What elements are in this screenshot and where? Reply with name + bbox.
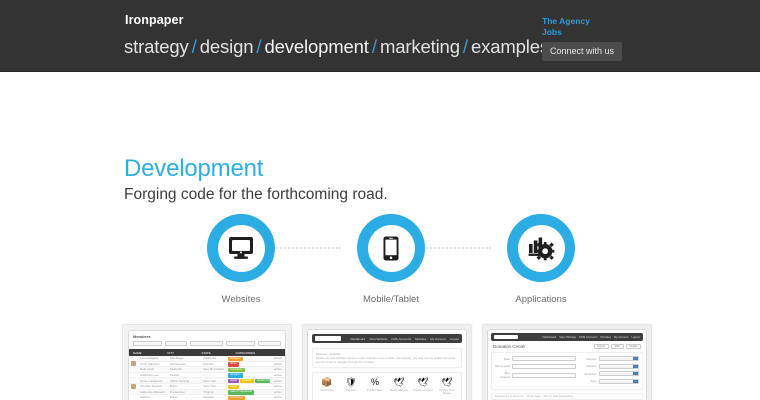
tile-icon: 📦 [315, 377, 339, 388]
service-item-mobile-tablet[interactable]: Mobile/Tablet [343, 214, 439, 305]
table-cell: New York [199, 384, 224, 388]
row-action[interactable]: active [270, 395, 285, 399]
thumb3-per-page: 25 per page [527, 395, 541, 398]
dashboard-icon-tile[interactable]: 🕊Product Coupons [411, 377, 435, 395]
toolbar-button[interactable]: Export [594, 344, 610, 349]
tile-icon: 🕊 [435, 377, 459, 388]
table-cell: San Diego [166, 356, 199, 360]
table-cell: Laura Rogers [136, 356, 166, 360]
thumb1-title: Members [129, 331, 285, 340]
table-cell: Plano [166, 395, 199, 399]
thumb2-menu: DashboardView WebsiteCMS AccountsModules… [351, 337, 460, 341]
service-circle [207, 214, 275, 282]
thumb3-filter-form: DateMin AmountMax Amount SponsorStreamsC… [491, 352, 643, 390]
page-title: Development [124, 155, 263, 183]
thumb2-notice-body: Please use this interface below to make … [316, 356, 458, 364]
utility-link-jobs[interactable]: Jobs [542, 27, 646, 38]
filter-select[interactable] [599, 379, 640, 384]
filter-label: Streams [582, 364, 597, 368]
menu-item[interactable]: View Website [559, 335, 576, 339]
row-action[interactable]: active [270, 384, 285, 388]
thumb3-pager: Displaying 1 to 25 of 171 25 per page So… [491, 393, 643, 400]
thumb2-topbar: DashboardView WebsiteCMS AccountsModules… [312, 334, 462, 343]
column-header: NAME [129, 349, 163, 356]
table-cell-tags: Consultant [224, 395, 270, 400]
table-cell: Connor Edgerton [136, 379, 166, 383]
page-subtitle: Forging code for the forthcoming road. [124, 186, 388, 204]
portfolio-thumbnail-grid: Members NAME CITY STATE CATEGORIES [122, 324, 652, 400]
connect-with-us-button[interactable]: Connect with us [542, 42, 622, 61]
filter-select[interactable] [599, 356, 640, 361]
table-cell: Sacramento [166, 362, 199, 366]
utility-link-the-agency[interactable]: The Agency [542, 16, 646, 27]
tile-label: Add Product [315, 389, 339, 392]
table-cell: Nashville [166, 367, 199, 371]
thumb3-sort: Sort by: date Descending [543, 395, 572, 398]
thumbnail-ecommerce-admin-dashboard[interactable]: DashboardView WebsiteCMS AccountsModules… [302, 324, 472, 400]
table-cell: Dale Leigh [136, 367, 166, 371]
thumb3-menu: DashboardView WebsiteCMS AccountsModules… [540, 335, 640, 339]
tile-label: Product Taxes [363, 389, 387, 392]
field-input[interactable] [512, 364, 576, 369]
service-list: Websites Mobile/Tablet [124, 214, 648, 318]
form-field: Date [495, 356, 576, 361]
field-input[interactable] [512, 356, 576, 361]
service-label: Applications [493, 294, 589, 305]
filter-select[interactable] [599, 371, 640, 376]
column-header: CITY [163, 349, 197, 356]
table-cell: Seattle [166, 373, 199, 377]
menu-item[interactable]: View Website [369, 337, 387, 341]
nav-item-marketing[interactable]: marketing [380, 36, 460, 58]
table-cell: Florida [199, 362, 224, 366]
nav-separator: / [372, 36, 377, 58]
tile-icon: 🕊 [387, 377, 411, 388]
smartphone-icon [368, 225, 415, 272]
thumb3-filters: SponsorStreamsCampaignType [582, 356, 640, 386]
thumb2-logo [315, 336, 341, 341]
table-cell: -- [199, 373, 224, 377]
field-label: Max Amount [495, 371, 510, 379]
form-field: Max Amount [495, 371, 576, 379]
nav-separator: / [256, 36, 261, 58]
row-action[interactable]: active [270, 390, 285, 394]
dashboard-icon-tile[interactable]: 🛡Products [339, 377, 363, 395]
row-action[interactable]: active [270, 367, 285, 371]
table-cell: Bronx [166, 384, 199, 388]
table-cell: Nevada [199, 395, 224, 399]
filter-field: Sponsor [582, 356, 640, 361]
monitor-icon [218, 225, 265, 272]
dashboard-icon-tile[interactable]: 🕊Product Returns [387, 377, 411, 395]
thumb3-pager-count: Displaying 1 to 25 of 171 [495, 395, 524, 398]
tile-icon: 🕊 [411, 377, 435, 388]
menu-item[interactable]: Dashboard [543, 335, 557, 339]
tile-icon: % [363, 377, 387, 388]
nav-separator: / [463, 36, 468, 58]
thumb3-topbar: DashboardView WebsiteCMS AccountsModules… [491, 333, 643, 341]
toolbar-button[interactable]: Delete [626, 344, 642, 349]
dashboard-icon-tile[interactable]: 📦Add Product [315, 377, 339, 395]
thumb3-logo [494, 335, 518, 339]
table-cell: Clifton Springs [166, 379, 199, 383]
table-cell: California [199, 356, 224, 360]
toolbar-button[interactable]: Edit [611, 344, 623, 349]
menu-item[interactable]: CMS Accounts [391, 337, 411, 341]
menu-item[interactable]: Logout [450, 337, 459, 341]
thumb3-buttons: ExportEditDelete [594, 344, 641, 349]
row-action[interactable]: active [270, 356, 285, 360]
thumb3-title: Donation Center [493, 344, 526, 349]
table-cell: New Brunswick [199, 367, 224, 371]
site-header: Ironpaper strategy / design / developmen… [0, 0, 760, 72]
service-circle [357, 214, 425, 282]
menu-item[interactable]: CMS Accounts [579, 335, 597, 339]
thumb3-header: Donation Center ExportEditDelete [491, 344, 643, 349]
dashboard-icon-tile[interactable]: %Product Taxes [363, 377, 387, 395]
service-item-websites[interactable]: Websites [193, 214, 289, 305]
table-cell: New York [199, 379, 224, 383]
filter-label: Sponsor [582, 357, 597, 361]
thumbnail-donation-center-admin[interactable]: DashboardView WebsiteCMS AccountsModules… [482, 324, 652, 400]
table-cell: Virginia [199, 390, 224, 394]
table-row[interactable]: GabrielPlanoNevadaConsultantactive [129, 395, 285, 400]
thumb1-controls [129, 340, 285, 349]
row-action[interactable]: active [270, 373, 285, 377]
service-item-applications[interactable]: Applications [493, 214, 589, 305]
field-label: Date [495, 357, 510, 361]
table-cell: Gabriel [136, 395, 166, 399]
table-cell: Jennifer Stewart [136, 384, 166, 388]
tile-icon: 🛡 [339, 377, 363, 388]
nav-item-design[interactable]: design [200, 36, 254, 58]
service-label: Websites [193, 294, 289, 305]
nav-item-strategy[interactable]: strategy [124, 36, 189, 58]
field-label: Min Amount [495, 364, 510, 368]
thumb2-notice: Welcome, Jonathan. Please use this inter… [312, 348, 462, 368]
service-circle [507, 214, 575, 282]
tile-label: Products [339, 389, 363, 392]
filter-field: Streams [582, 364, 640, 369]
nav-item-examples[interactable]: examples [471, 36, 549, 58]
table-cell: Chris Sanchez [136, 362, 166, 366]
form-field: Min Amount [495, 364, 576, 369]
thumb1-table-body: Laura RogersSan DiegoCaliforniaDesignera… [129, 356, 285, 400]
header-utility-area: The Agency Jobs Connect with us [542, 16, 646, 61]
tile-label: Product Price Ranges [435, 389, 459, 395]
dashboard-icon-tile[interactable]: 🕊Product Price Ranges [435, 377, 459, 395]
thumb3-fields: DateMin AmountMax Amount [495, 356, 576, 386]
row-action[interactable]: active [270, 379, 285, 383]
filter-field: Type [582, 379, 640, 384]
service-label: Mobile/Tablet [343, 294, 439, 305]
page-body: Development Forging code for the forthco… [0, 72, 760, 400]
table-cell: Katherine Maxwell [136, 390, 166, 394]
row-action[interactable]: active [270, 362, 285, 366]
table-cell: Catherine Lee [136, 373, 166, 377]
table-cell: Fredericton [166, 390, 199, 394]
menu-item[interactable]: My Account [430, 337, 446, 341]
tile-label: Product Coupons [411, 389, 435, 392]
nav-separator: / [192, 36, 197, 58]
menu-item[interactable]: Modules [415, 337, 426, 341]
thumbnail-members-admin-table[interactable]: Members NAME CITY STATE CATEGORIES [122, 324, 292, 400]
thumb2-icon-grid: 📦Add Product🛡Products%Product Taxes🕊Prod… [312, 372, 462, 400]
tile-label: Product Returns [387, 389, 411, 392]
chart-gear-icon [518, 225, 565, 272]
filter-label: Type [582, 379, 597, 383]
menu-item[interactable]: My Account [614, 335, 628, 339]
menu-item[interactable]: Modules [600, 335, 611, 339]
menu-item[interactable]: Logout [631, 335, 640, 339]
field-input[interactable] [512, 373, 576, 378]
nav-item-development[interactable]: development [265, 36, 369, 58]
menu-item[interactable]: Dashboard [351, 337, 366, 341]
filter-select[interactable] [599, 364, 640, 369]
filter-field: Campaign [582, 371, 640, 376]
brand-logo[interactable]: Ironpaper [125, 13, 184, 27]
main-navigation: strategy / design / development / market… [124, 36, 549, 58]
filter-label: Campaign [582, 372, 597, 376]
